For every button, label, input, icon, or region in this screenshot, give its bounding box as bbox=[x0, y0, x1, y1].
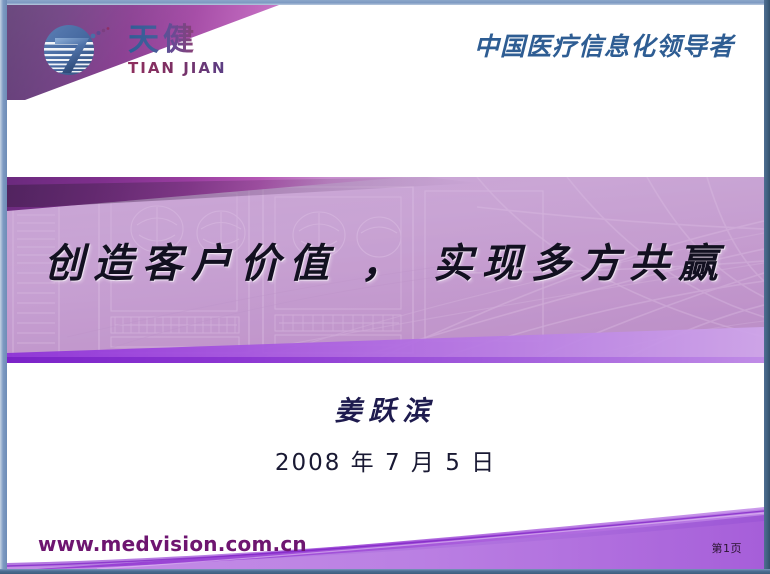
presentation-slide: 天健 TIAN JIAN 中国医疗信息化领导者 bbox=[0, 0, 770, 574]
slide-main-title: 创造客户价值 ， 实现多方共赢 bbox=[7, 231, 764, 289]
tianjian-logo-mark-icon bbox=[42, 23, 114, 77]
website-url: www.medvision.com.cn bbox=[38, 532, 307, 556]
page-number: 第1页 bbox=[712, 540, 743, 556]
slide-header: 天健 TIAN JIAN 中国医疗信息化领导者 bbox=[7, 5, 764, 100]
slide-border-bottom bbox=[0, 569, 770, 574]
logo-chinese-name: 天健 bbox=[128, 21, 198, 59]
slide-border-left bbox=[0, 0, 7, 574]
header-tagline: 中国医疗信息化领导者 bbox=[474, 27, 734, 63]
presentation-date: 2008 年 7 月 5 日 bbox=[7, 443, 764, 477]
slide-border-right bbox=[764, 0, 770, 574]
logo-pinyin-name: TIAN JIAN bbox=[128, 59, 227, 77]
presenter-name: 姜跃滨 bbox=[7, 389, 764, 428]
header-banner-gap bbox=[7, 100, 764, 177]
title-banner: 创造客户价值 ， 实现多方共赢 bbox=[7, 177, 764, 363]
company-logo: 天健 TIAN JIAN bbox=[42, 21, 272, 83]
